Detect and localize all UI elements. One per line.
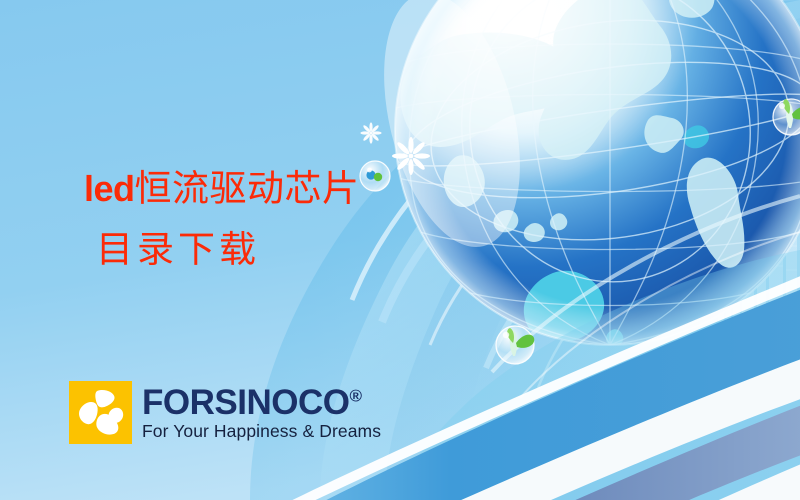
- headline-line-1: led恒流驱动芯片: [84, 166, 360, 211]
- slide-headline: led恒流驱动芯片 目录下载: [84, 166, 360, 272]
- sparkle-star-small: [360, 122, 381, 143]
- sparkle-star-left: [392, 137, 430, 175]
- slide-canvas: led恒流驱动芯片 目录下载 FORSINOCO® For Your Happ: [0, 0, 800, 500]
- pinwheel-petals-icon: [69, 381, 132, 444]
- bubble-leaf-icon: [496, 326, 534, 364]
- company-logo[interactable]: FORSINOCO® For Your Happiness & Dreams: [69, 381, 381, 444]
- logo-wordmark-text: FORSINOCO: [142, 383, 349, 422]
- forsinoco-pinwheel-mark: [69, 381, 132, 444]
- registered-mark-icon: ®: [349, 386, 361, 405]
- logo-wordmark: FORSINOCO®: [142, 385, 381, 420]
- logo-tagline: For Your Happiness & Dreams: [142, 422, 381, 440]
- headline-cjk-part: 恒流驱动芯片: [135, 167, 360, 210]
- headline-latin-prefix: led: [84, 168, 135, 209]
- logo-text-block: FORSINOCO® For Your Happiness & Dreams: [142, 385, 381, 440]
- headline-line-2: 目录下载: [96, 227, 360, 272]
- bubble-globe-icon: [360, 161, 390, 191]
